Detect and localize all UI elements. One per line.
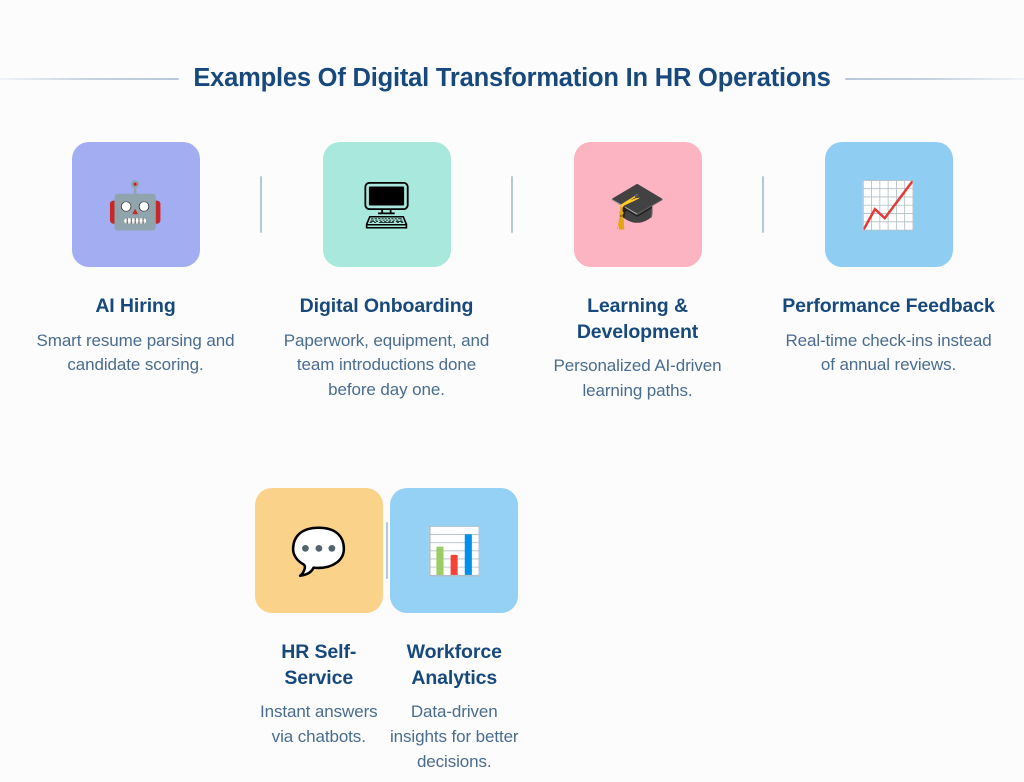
infographic-root: Examples Of Digital Transformation In HR… xyxy=(0,0,1024,782)
card-title: Workforce Analytics xyxy=(387,640,523,691)
header: Examples Of Digital Transformation In HR… xyxy=(0,58,1024,100)
card-hr-self-service[interactable]: 💬 HR Self-Service Instant answers via ch… xyxy=(251,488,387,750)
card-icon-tile: 💬 xyxy=(255,488,383,613)
card-learning-and-development[interactable]: 🎓 Learning & Development Personalized AI… xyxy=(512,142,763,404)
title-rule-right xyxy=(845,78,1024,80)
card-digital-onboarding[interactable]: 🖥 Digital Onboarding Paperwork, equipmen… xyxy=(261,142,512,403)
card-description: Real-time check-ins instead of annual re… xyxy=(783,329,995,378)
card-description: Smart resume parsing and candidate scori… xyxy=(30,329,242,378)
card-icon-tile: 📊 xyxy=(390,488,518,613)
bar-chart-icon: 📊 xyxy=(426,528,483,574)
card-row-two: 💬 HR Self-Service Instant answers via ch… xyxy=(0,488,1024,774)
graduation-cap-icon: 🎓 xyxy=(609,182,666,228)
card-ai-hiring[interactable]: 🤖 AI Hiring Smart resume parsing and can… xyxy=(10,142,261,378)
page-title: Examples Of Digital Transformation In HR… xyxy=(193,66,830,92)
card-icon-tile: 🖥 xyxy=(323,142,451,267)
card-title: Digital Onboarding xyxy=(300,294,474,320)
card-performance-feedback[interactable]: 📈 Performance Feedback Real-time check-i… xyxy=(763,142,1014,378)
card-row-one: 🤖 AI Hiring Smart resume parsing and can… xyxy=(0,142,1024,404)
card-title: AI Hiring xyxy=(95,294,175,320)
card-title: HR Self-Service xyxy=(251,640,387,691)
card-description: Data-driven insights for better decision… xyxy=(387,700,523,774)
card-icon-tile: 📈 xyxy=(825,142,953,267)
card-icon-tile: 🤖 xyxy=(72,142,200,267)
card-title: Learning & Development xyxy=(530,294,745,345)
desktop-computer-icon: 🖥 xyxy=(357,182,415,228)
robot-icon: 🤖 xyxy=(107,182,164,228)
card-title: Performance Feedback xyxy=(782,294,995,320)
card-description: Personalized AI-driven learning paths. xyxy=(532,354,744,403)
speech-balloon-icon: 💬 xyxy=(290,528,347,574)
card-workforce-analytics[interactable]: 📊 Workforce Analytics Data-driven insigh… xyxy=(387,488,523,774)
card-icon-tile: 🎓 xyxy=(574,142,702,267)
card-description: Paperwork, equipment, and team introduct… xyxy=(281,329,493,403)
title-rule-left xyxy=(0,78,179,80)
card-description: Instant answers via chatbots. xyxy=(251,700,387,749)
chart-increasing-icon: 📈 xyxy=(860,182,917,228)
